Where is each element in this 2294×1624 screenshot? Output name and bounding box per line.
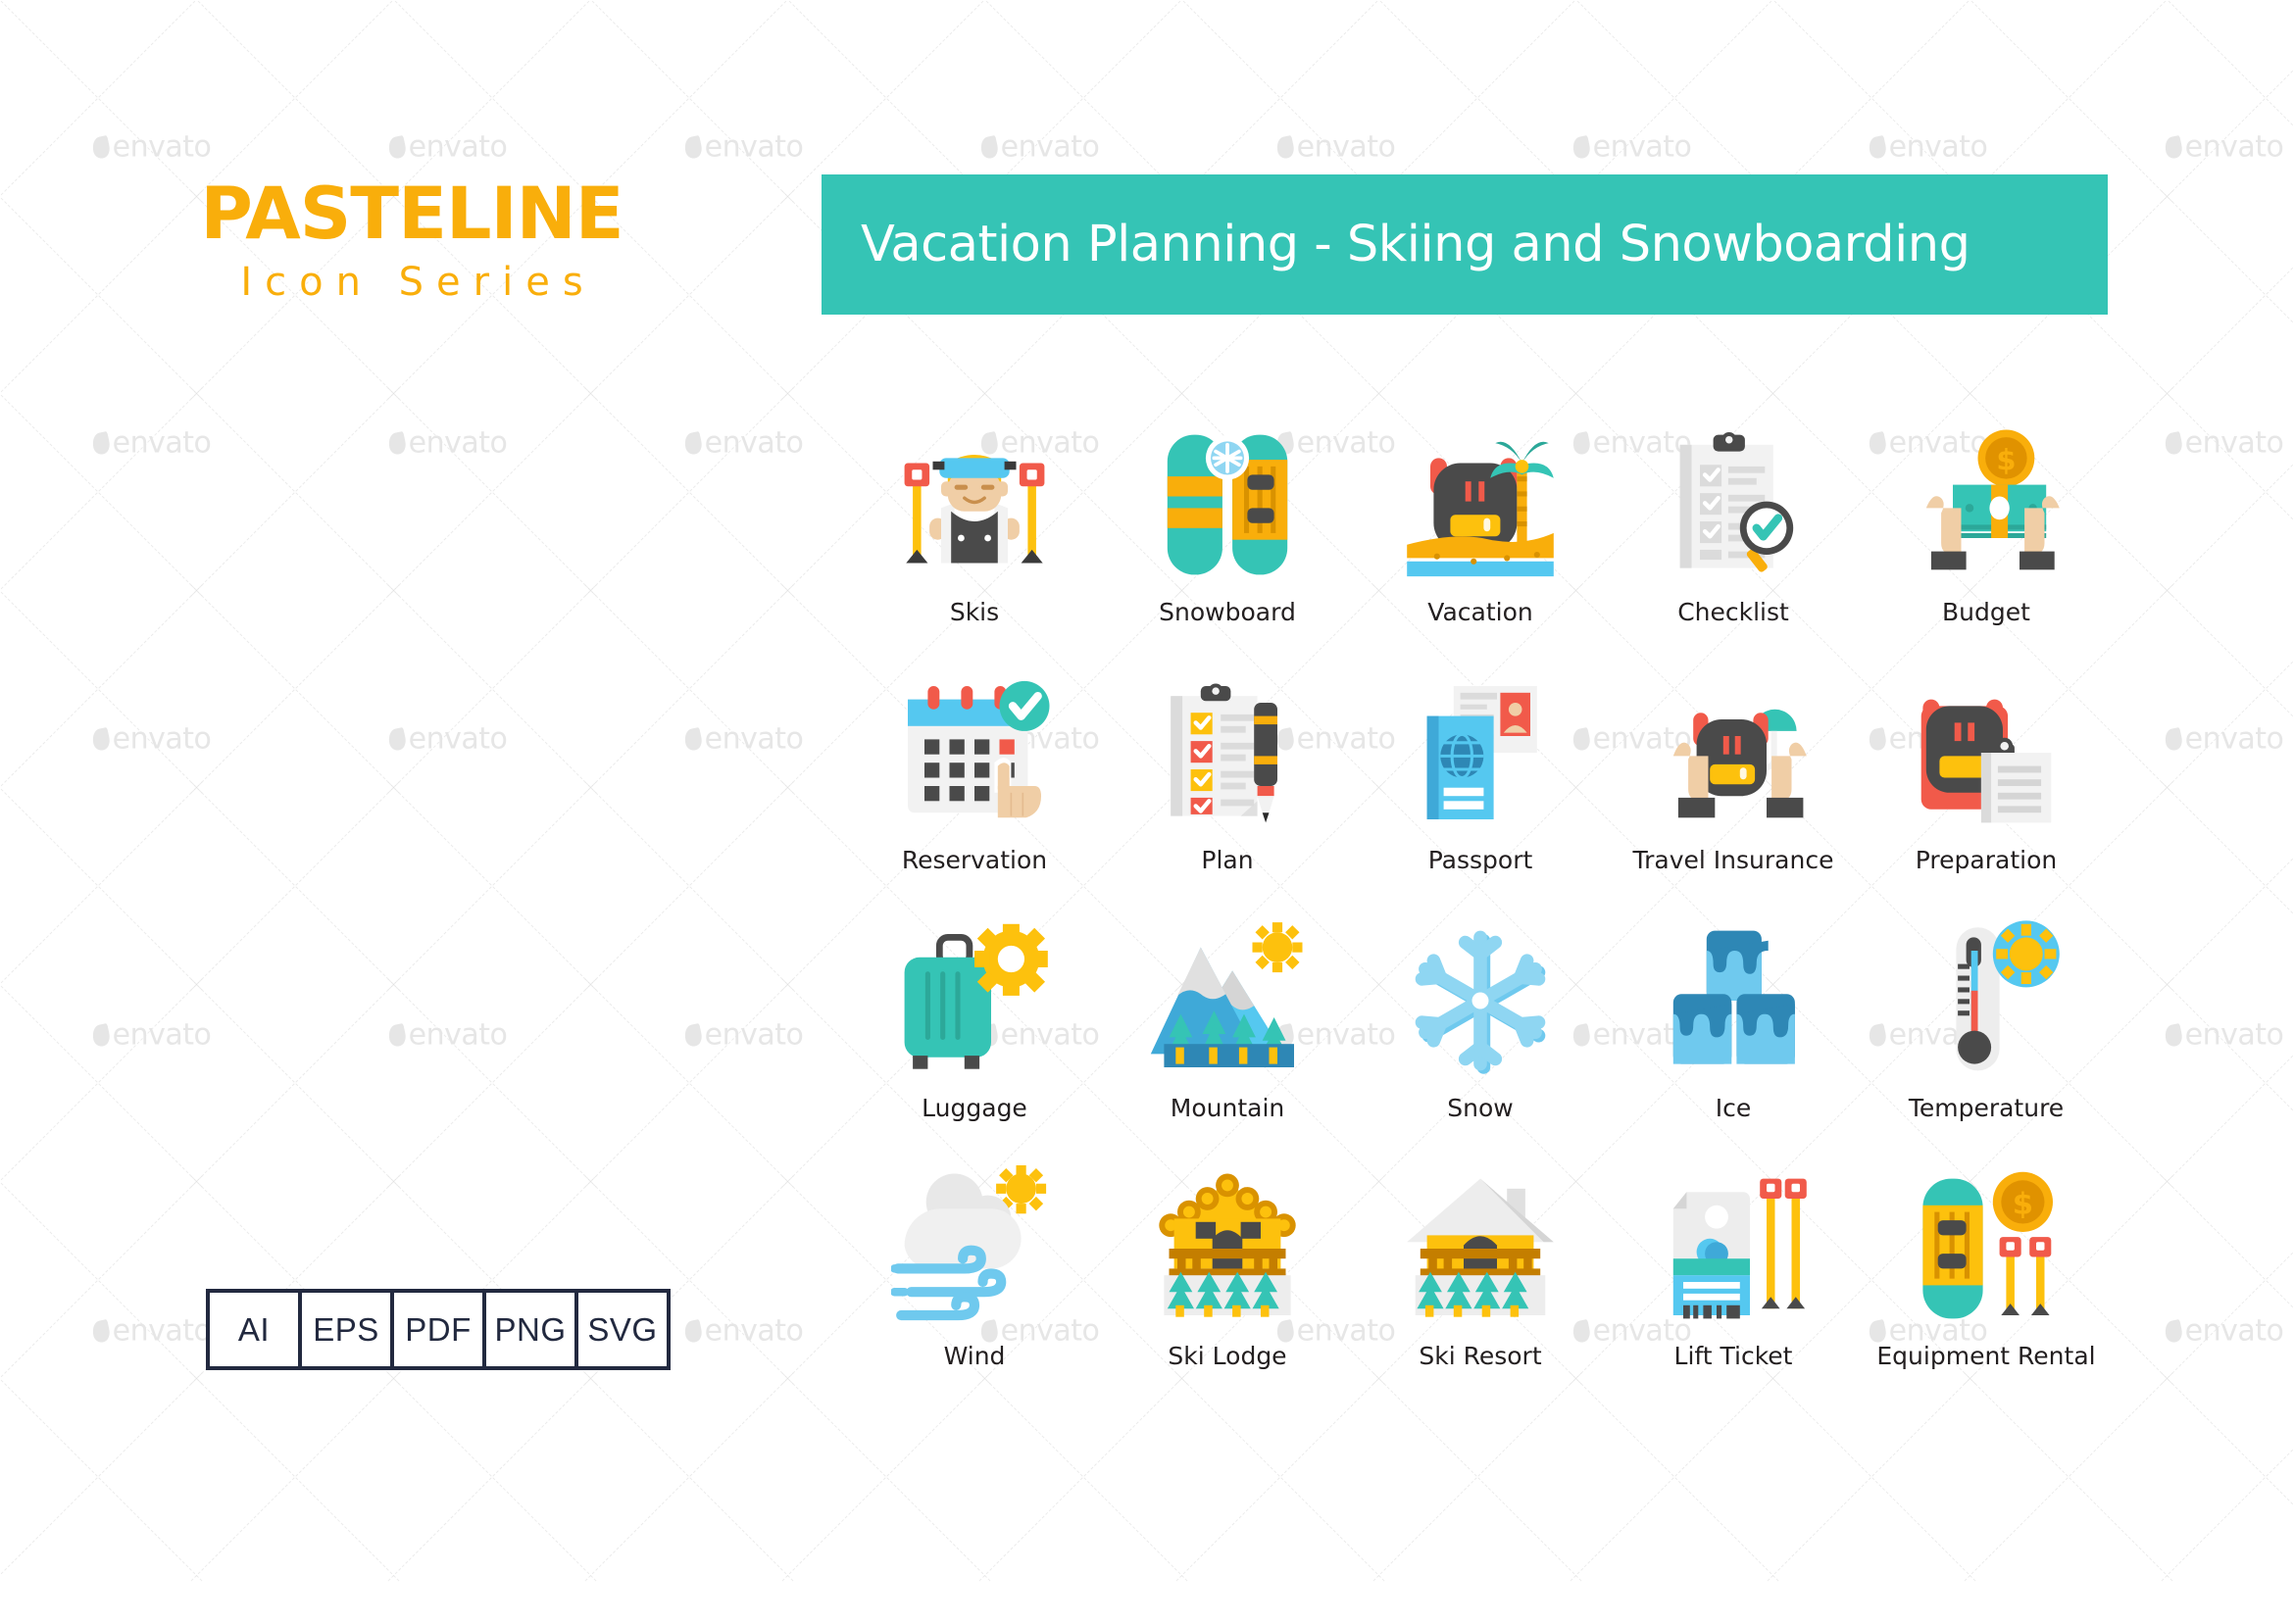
envato-leaf-icon xyxy=(683,134,704,159)
ice-icon xyxy=(1650,917,1817,1084)
icon-cell-mountain[interactable]: Mountain xyxy=(1101,917,1354,1122)
icon-label: Budget xyxy=(1942,598,2030,626)
svg-text:$: $ xyxy=(2013,1187,2033,1221)
watermark-text: envato xyxy=(685,130,804,165)
watermark-text: envato xyxy=(685,426,804,461)
envato-leaf-icon xyxy=(91,1318,112,1343)
icon-label: Ski Resort xyxy=(1419,1342,1541,1370)
budget-icon: $ xyxy=(1903,421,2070,588)
watermark-crosshatch xyxy=(148,1133,442,1427)
watermark-text: envato xyxy=(93,1018,212,1053)
icon-grid: Skis Snowboard Vacation xyxy=(848,421,2113,1370)
envato-leaf-icon xyxy=(387,430,408,455)
watermark-text: envato xyxy=(1870,130,1988,165)
watermark-crosshatch xyxy=(542,739,836,1033)
envato-leaf-icon xyxy=(1275,134,1296,159)
icon-cell-passport[interactable]: Passport xyxy=(1354,669,1607,874)
watermark-crosshatch xyxy=(2119,1133,2294,1427)
format-badge-svg[interactable]: SVG xyxy=(578,1293,667,1366)
watermark-crosshatch xyxy=(1133,1330,1427,1624)
snow-icon xyxy=(1397,917,1564,1084)
icon-label: Preparation xyxy=(1916,846,2057,874)
watermark-crosshatch xyxy=(0,542,245,836)
icon-label: Vacation xyxy=(1427,598,1532,626)
envato-leaf-icon xyxy=(683,430,704,455)
travel-insurance-icon xyxy=(1650,669,1817,836)
icon-cell-budget[interactable]: $ Budget xyxy=(1860,421,2113,626)
envato-leaf-icon xyxy=(387,726,408,751)
watermark-crosshatch xyxy=(1527,1330,1821,1624)
icon-cell-ice[interactable]: Ice xyxy=(1607,917,1860,1122)
envato-leaf-icon xyxy=(2164,726,2184,751)
watermark-text: envato xyxy=(2166,1314,2284,1349)
envato-leaf-icon xyxy=(2164,1318,2184,1343)
watermark-text: envato xyxy=(685,722,804,757)
watermark-text: envato xyxy=(2166,722,2284,757)
watermark-text: envato xyxy=(2166,130,2284,165)
icon-cell-preparation[interactable]: Preparation xyxy=(1860,669,2113,874)
watermark-crosshatch xyxy=(1330,1330,1624,1624)
icon-cell-ski-resort[interactable]: Ski Resort xyxy=(1354,1165,1607,1370)
watermark-text: envato xyxy=(685,1018,804,1053)
watermark-text: envato xyxy=(389,1018,508,1053)
watermark-text: envato xyxy=(1277,130,1396,165)
watermark-crosshatch xyxy=(2119,1330,2294,1624)
envato-leaf-icon xyxy=(91,134,112,159)
mountain-icon xyxy=(1144,917,1311,1084)
icon-cell-lift-ticket[interactable]: Lift Ticket xyxy=(1607,1165,1860,1370)
watermark-crosshatch xyxy=(345,1133,639,1427)
icon-label: Mountain xyxy=(1171,1094,1284,1122)
watermark-crosshatch xyxy=(0,936,245,1230)
watermark-crosshatch xyxy=(148,1330,442,1624)
envato-leaf-icon xyxy=(979,134,1000,159)
icon-label: Reservation xyxy=(902,846,1047,874)
svg-text:$: $ xyxy=(1996,443,2016,476)
watermark-crosshatch xyxy=(542,1330,836,1624)
watermark-text: envato xyxy=(389,426,508,461)
ski-resort-icon xyxy=(1397,1165,1564,1332)
luggage-icon xyxy=(891,917,1058,1084)
watermark-text: envato xyxy=(389,130,508,165)
watermark-crosshatch xyxy=(1921,1330,2216,1624)
envato-leaf-icon xyxy=(387,1022,408,1047)
watermark-crosshatch xyxy=(0,345,245,639)
icon-label: Plan xyxy=(1201,846,1253,874)
icon-label: Skis xyxy=(950,598,999,626)
watermark-crosshatch xyxy=(1724,1330,2019,1624)
watermark-crosshatch xyxy=(542,542,836,836)
icon-label: Luggage xyxy=(922,1094,1027,1122)
envato-leaf-icon xyxy=(683,726,704,751)
header-title: Vacation Planning - Skiing and Snowboard… xyxy=(822,216,1970,273)
envato-leaf-icon xyxy=(1868,134,1888,159)
watermark-crosshatch xyxy=(0,739,245,1033)
watermark-crosshatch xyxy=(2119,542,2294,836)
watermark-crosshatch xyxy=(148,542,442,836)
icon-label: Snow xyxy=(1447,1094,1513,1122)
equipment-rental-icon: $ xyxy=(1903,1165,2070,1332)
icon-cell-snow[interactable]: Snow xyxy=(1354,917,1607,1122)
page-title: PASTELINE xyxy=(181,178,642,250)
envato-leaf-icon xyxy=(683,1318,704,1343)
watermark-text: envato xyxy=(2166,426,2284,461)
watermark-text: envato xyxy=(685,1314,804,1349)
icon-label: Travel Insurance xyxy=(1633,846,1834,874)
snowboard-icon xyxy=(1144,421,1311,588)
envato-leaf-icon xyxy=(683,1022,704,1047)
watermark-text: envato xyxy=(93,426,212,461)
envato-leaf-icon xyxy=(387,134,408,159)
brand-block: PASTELINE Icon Series xyxy=(181,178,642,305)
vacation-icon xyxy=(1397,421,1564,588)
icon-cell-travel-insurance[interactable]: Travel Insurance xyxy=(1607,669,1860,874)
icon-cell-checklist[interactable]: Checklist xyxy=(1607,421,1860,626)
icon-cell-plan[interactable]: Plan xyxy=(1101,669,1354,874)
format-badge-png[interactable]: PNG xyxy=(486,1293,574,1366)
envato-leaf-icon xyxy=(2164,134,2184,159)
icon-cell-vacation[interactable]: Vacation xyxy=(1354,421,1607,626)
preparation-icon xyxy=(1903,669,2070,836)
icon-cell-skis[interactable]: Skis xyxy=(848,421,1101,626)
checklist-icon xyxy=(1650,421,1817,588)
icon-cell-reservation[interactable]: Reservation xyxy=(848,669,1101,874)
watermark-crosshatch xyxy=(148,345,442,639)
watermark-text: envato xyxy=(1573,130,1692,165)
icon-cell-equipment-rental[interactable]: $ Equipment Rental xyxy=(1860,1165,2113,1370)
lift-ticket-icon xyxy=(1650,1165,1817,1332)
envato-leaf-icon xyxy=(91,1022,112,1047)
passport-icon xyxy=(1397,669,1564,836)
format-badge-eps[interactable]: EPS xyxy=(302,1293,390,1366)
header-banner: Vacation Planning - Skiing and Snowboard… xyxy=(822,174,2108,315)
icon-cell-luggage[interactable]: Luggage xyxy=(848,917,1101,1122)
watermark-text: envato xyxy=(981,130,1100,165)
icon-label: Ski Lodge xyxy=(1168,1342,1286,1370)
format-badge-ai[interactable]: AI xyxy=(210,1293,298,1366)
icon-label: Equipment Rental xyxy=(1876,1342,2095,1370)
envato-leaf-icon xyxy=(2164,1022,2184,1047)
watermark-crosshatch xyxy=(2119,739,2294,1033)
watermark-crosshatch xyxy=(2119,148,2294,442)
format-badge-pdf[interactable]: PDF xyxy=(394,1293,482,1366)
watermark-crosshatch xyxy=(2119,0,2294,245)
icon-cell-temperature[interactable]: Temperature xyxy=(1860,917,2113,1122)
watermark-crosshatch xyxy=(542,1133,836,1427)
temperature-icon xyxy=(1903,917,2070,1084)
watermark-crosshatch xyxy=(345,739,639,1033)
icon-label: Checklist xyxy=(1677,598,1789,626)
watermark-crosshatch xyxy=(345,936,639,1230)
envato-leaf-icon xyxy=(1571,134,1592,159)
watermark-crosshatch xyxy=(345,1330,639,1624)
watermark-crosshatch xyxy=(542,936,836,1230)
wind-icon xyxy=(891,1165,1058,1332)
brand-subtitle: Icon Series xyxy=(181,260,642,305)
watermark-text: envato xyxy=(93,722,212,757)
icon-label: Ice xyxy=(1716,1094,1752,1122)
format-list: AIEPSPDFPNGSVG xyxy=(206,1289,671,1370)
watermark-crosshatch xyxy=(345,542,639,836)
envato-leaf-icon xyxy=(91,430,112,455)
watermark-crosshatch xyxy=(542,345,836,639)
plan-icon xyxy=(1144,669,1311,836)
watermark-crosshatch xyxy=(739,1330,1033,1624)
watermark-crosshatch xyxy=(0,1330,245,1624)
reservation-icon xyxy=(891,669,1058,836)
envato-leaf-icon xyxy=(91,726,112,751)
watermark-text: envato xyxy=(389,722,508,757)
icon-label: Passport xyxy=(1428,846,1533,874)
icon-cell-snowboard[interactable]: Snowboard xyxy=(1101,421,1354,626)
watermark-text: envato xyxy=(2166,1018,2284,1053)
envato-leaf-icon xyxy=(2164,430,2184,455)
watermark-text: envato xyxy=(93,1314,212,1349)
watermark-text: envato xyxy=(93,130,212,165)
watermark-crosshatch xyxy=(148,739,442,1033)
watermark-crosshatch xyxy=(936,1330,1230,1624)
skis-icon xyxy=(891,421,1058,588)
icon-label: Lift Ticket xyxy=(1674,1342,1793,1370)
ski-lodge-icon xyxy=(1144,1165,1311,1332)
icon-cell-ski-lodge[interactable]: Ski Lodge xyxy=(1101,1165,1354,1370)
icon-label: Temperature xyxy=(1909,1094,2064,1122)
watermark-crosshatch xyxy=(0,1133,245,1427)
watermark-crosshatch xyxy=(148,936,442,1230)
watermark-crosshatch xyxy=(345,345,639,639)
icon-label: Snowboard xyxy=(1159,598,1296,626)
watermark-crosshatch xyxy=(2119,345,2294,639)
icon-cell-wind[interactable]: Wind xyxy=(848,1165,1101,1370)
watermark-crosshatch xyxy=(2119,936,2294,1230)
icon-label: Wind xyxy=(944,1342,1006,1370)
